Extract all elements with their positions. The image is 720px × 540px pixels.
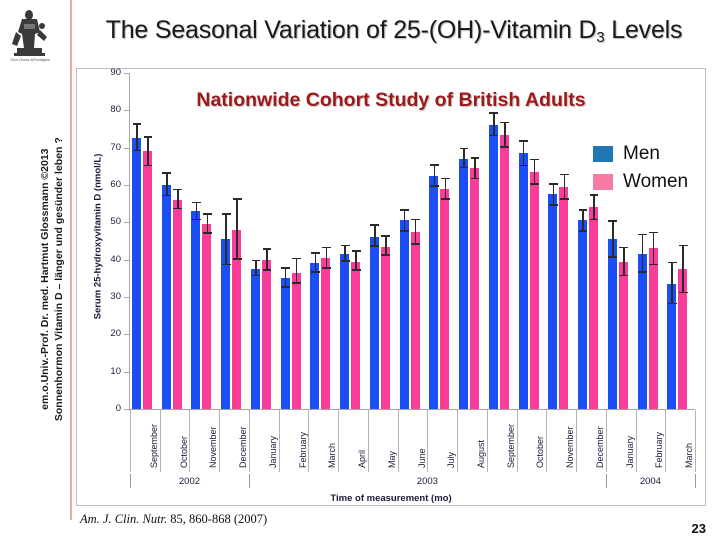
x-axis-tick-label: October — [535, 436, 545, 468]
bar-women — [143, 151, 152, 409]
x-axis-separator — [517, 410, 518, 472]
error-bar — [653, 232, 655, 266]
bar-men — [340, 254, 349, 409]
year-band-label: 2003 — [249, 476, 606, 487]
error-bar — [523, 140, 525, 166]
x-axis-tick-label: October — [179, 436, 189, 468]
bar-men — [638, 254, 647, 409]
error-bar — [225, 213, 227, 265]
bar-women — [173, 200, 182, 409]
bar-group — [338, 73, 368, 409]
bar-group — [130, 73, 160, 409]
x-axis-tick-label: June — [417, 448, 427, 468]
error-bar — [385, 235, 387, 256]
x-axis-separator — [665, 410, 666, 472]
bar-men — [370, 237, 379, 409]
error-bar — [415, 219, 417, 245]
bar-men — [400, 220, 409, 409]
bar-women — [411, 232, 420, 409]
x-axis-tick-label: March — [684, 443, 694, 468]
bar-men — [519, 153, 528, 409]
error-bar — [196, 202, 198, 221]
bar-group — [427, 73, 457, 409]
bar-women — [619, 262, 628, 409]
bar-men — [548, 194, 557, 409]
error-bar — [434, 164, 436, 186]
author-credit-line1: em.o.Univ.-Prof. Dr. med. Hartmut Glossm… — [38, 114, 52, 444]
bar-group — [368, 73, 398, 409]
x-axis-tick-label: May — [387, 451, 397, 468]
error-bar — [612, 220, 614, 257]
slide-number: 23 — [692, 521, 706, 536]
error-bar — [682, 245, 684, 294]
legend-swatch — [593, 174, 613, 190]
bar-men — [459, 159, 468, 409]
bar-women — [559, 187, 568, 409]
x-axis-tick-label: March — [327, 443, 337, 468]
bar-men — [310, 263, 319, 409]
x-axis-tick-label: December — [595, 426, 605, 468]
x-axis-tick-label: July — [446, 452, 456, 468]
error-bar — [177, 189, 179, 210]
legend-label: Men — [623, 143, 660, 165]
bar-women — [589, 207, 598, 409]
x-axis-separator — [279, 410, 280, 472]
x-axis-separator — [219, 410, 220, 472]
bar-group — [487, 73, 517, 409]
error-bar — [582, 209, 584, 231]
bar-group — [576, 73, 606, 409]
error-bar — [374, 224, 376, 246]
error-bar — [136, 123, 138, 151]
error-bar — [564, 174, 566, 200]
x-axis-tick-label: November — [208, 426, 218, 468]
x-axis-separator — [546, 410, 547, 472]
error-bar — [255, 260, 257, 277]
bar-men — [608, 239, 617, 409]
x-axis-tick-label: November — [565, 426, 575, 468]
x-axis-separator — [695, 410, 696, 472]
error-bar — [166, 172, 168, 196]
bar-women — [202, 224, 211, 409]
bar-group — [636, 73, 666, 409]
legend-swatch — [593, 146, 613, 162]
x-axis-tick-label: December — [238, 426, 248, 468]
x-axis-separator — [636, 410, 637, 472]
bar-group — [160, 73, 190, 409]
bar-women — [530, 172, 539, 409]
error-bar — [504, 122, 506, 148]
source-citation: Am. J. Clin. Nutr. 85, 860-868 (2007) — [80, 512, 267, 527]
x-axis-tick-label: January — [268, 436, 278, 468]
x-axis-separator — [457, 410, 458, 472]
y-axis-tick-label: 60 — [95, 179, 121, 190]
x-axis-separator — [249, 410, 250, 472]
error-bar — [642, 234, 644, 273]
bar-men — [251, 269, 260, 409]
bar-group — [249, 73, 279, 409]
x-axis-separator — [130, 410, 131, 472]
bar-women — [292, 273, 301, 409]
error-bar — [207, 213, 209, 234]
bar-men — [429, 176, 438, 409]
bar-women — [500, 135, 509, 409]
y-axis-tick-label: 10 — [95, 366, 121, 377]
y-axis-tick-label: 90 — [95, 67, 121, 78]
university-crest-logo: Gen.Gloss.&Prodigies — [4, 6, 56, 62]
year-band-label: 2002 — [130, 476, 249, 487]
bar-group — [517, 73, 547, 409]
x-axis-separator — [189, 410, 190, 472]
year-band-label: 2004 — [606, 476, 695, 487]
legend-item[interactable]: Women — [593, 171, 688, 193]
error-bar — [474, 157, 476, 179]
x-axis-separator — [160, 410, 161, 472]
bar-group — [308, 73, 338, 409]
x-axis-labels: SeptemberOctoberNovemberDecemberJanuaryF… — [130, 410, 695, 472]
error-bar — [326, 247, 328, 269]
citation-journal: Am. J. Clin. Nutr. — [80, 512, 167, 526]
error-bar — [147, 136, 149, 166]
y-axis-tick-label: 70 — [95, 142, 121, 153]
legend-item[interactable]: Men — [593, 143, 688, 165]
bar-women — [262, 260, 271, 409]
x-axis-tick-label: August — [476, 440, 486, 468]
bar-group — [606, 73, 636, 409]
y-axis-tick-label: 80 — [95, 104, 121, 115]
y-axis-tick-label: 30 — [95, 291, 121, 302]
y-axis-tick-label: 20 — [95, 328, 121, 339]
bar-women — [321, 258, 330, 409]
bar-women — [440, 189, 449, 409]
bar-group — [457, 73, 487, 409]
error-bar — [344, 245, 346, 262]
bar-men — [132, 138, 141, 409]
bar-group — [546, 73, 576, 409]
x-axis-tick-label: February — [298, 432, 308, 468]
bar-women — [351, 262, 360, 409]
page-title-main: The Seasonal Variation of 25-(OH)-Vitami… — [106, 16, 597, 44]
bar-group — [279, 73, 309, 409]
error-bar — [355, 250, 357, 271]
x-axis-title: Time of measurement (mo) — [77, 493, 705, 504]
bar-women — [470, 168, 479, 409]
error-bar — [493, 112, 495, 136]
x-axis-separator — [576, 410, 577, 472]
error-bar — [266, 248, 268, 270]
bar-group — [665, 73, 695, 409]
bar-women — [381, 247, 390, 409]
x-axis-separator — [398, 410, 399, 472]
x-axis-separator — [338, 410, 339, 472]
error-bar — [404, 209, 406, 231]
bar-men — [191, 211, 200, 409]
year-band-divider — [695, 474, 696, 488]
x-axis-tick-label: April — [357, 450, 367, 468]
x-axis-tick-label: September — [506, 424, 516, 468]
page-title: The Seasonal Variation of 25-(OH)-Vitami… — [74, 16, 714, 46]
error-bar — [445, 178, 447, 200]
bar-group — [219, 73, 249, 409]
author-credit: em.o.Univ.-Prof. Dr. med. Hartmut Glossm… — [38, 114, 66, 444]
legend-label: Women — [623, 171, 688, 193]
x-axis-separator — [487, 410, 488, 472]
chart-legend: MenWomen — [593, 143, 688, 199]
y-axis-tick-label: 40 — [95, 254, 121, 265]
y-axis-tick-label: 0 — [95, 403, 121, 414]
error-bar — [534, 159, 536, 185]
page-title-subscript: 3 — [596, 29, 604, 46]
chart-container: Nationwide Cohort Study of British Adult… — [76, 68, 706, 506]
x-axis-tick-label: February — [654, 432, 664, 468]
bar-men — [281, 278, 290, 409]
bar-group — [398, 73, 428, 409]
y-axis-tick-label: 50 — [95, 216, 121, 227]
x-axis-tick-label: September — [149, 424, 159, 468]
error-bar — [285, 267, 287, 288]
bar-men — [578, 220, 587, 409]
error-bar — [463, 148, 465, 169]
bar-men — [489, 125, 498, 409]
x-axis-tick-label: January — [625, 436, 635, 468]
error-bar — [553, 183, 555, 205]
bar-group — [189, 73, 219, 409]
left-vertical-rule — [70, 0, 72, 520]
error-bar — [315, 252, 317, 273]
error-bar — [623, 247, 625, 277]
author-credit-line2: Sonnenhormon Vitamin D – länger und gesü… — [52, 114, 66, 444]
page-title-tail: Levels — [605, 16, 683, 44]
x-axis-separator — [308, 410, 309, 472]
bar-men — [162, 185, 171, 409]
x-axis-separator — [368, 410, 369, 472]
plot-area — [130, 73, 695, 409]
x-axis-separator — [427, 410, 428, 472]
citation-volume-pages: 85, 860-868 (2007) — [170, 512, 267, 526]
error-bar — [296, 258, 298, 284]
x-axis-separator — [606, 410, 607, 472]
error-bar — [236, 198, 238, 260]
svg-text:Gen.Gloss.&Prodigies: Gen.Gloss.&Prodigies — [10, 57, 49, 62]
bar-women — [649, 248, 658, 409]
error-bar — [671, 262, 673, 305]
